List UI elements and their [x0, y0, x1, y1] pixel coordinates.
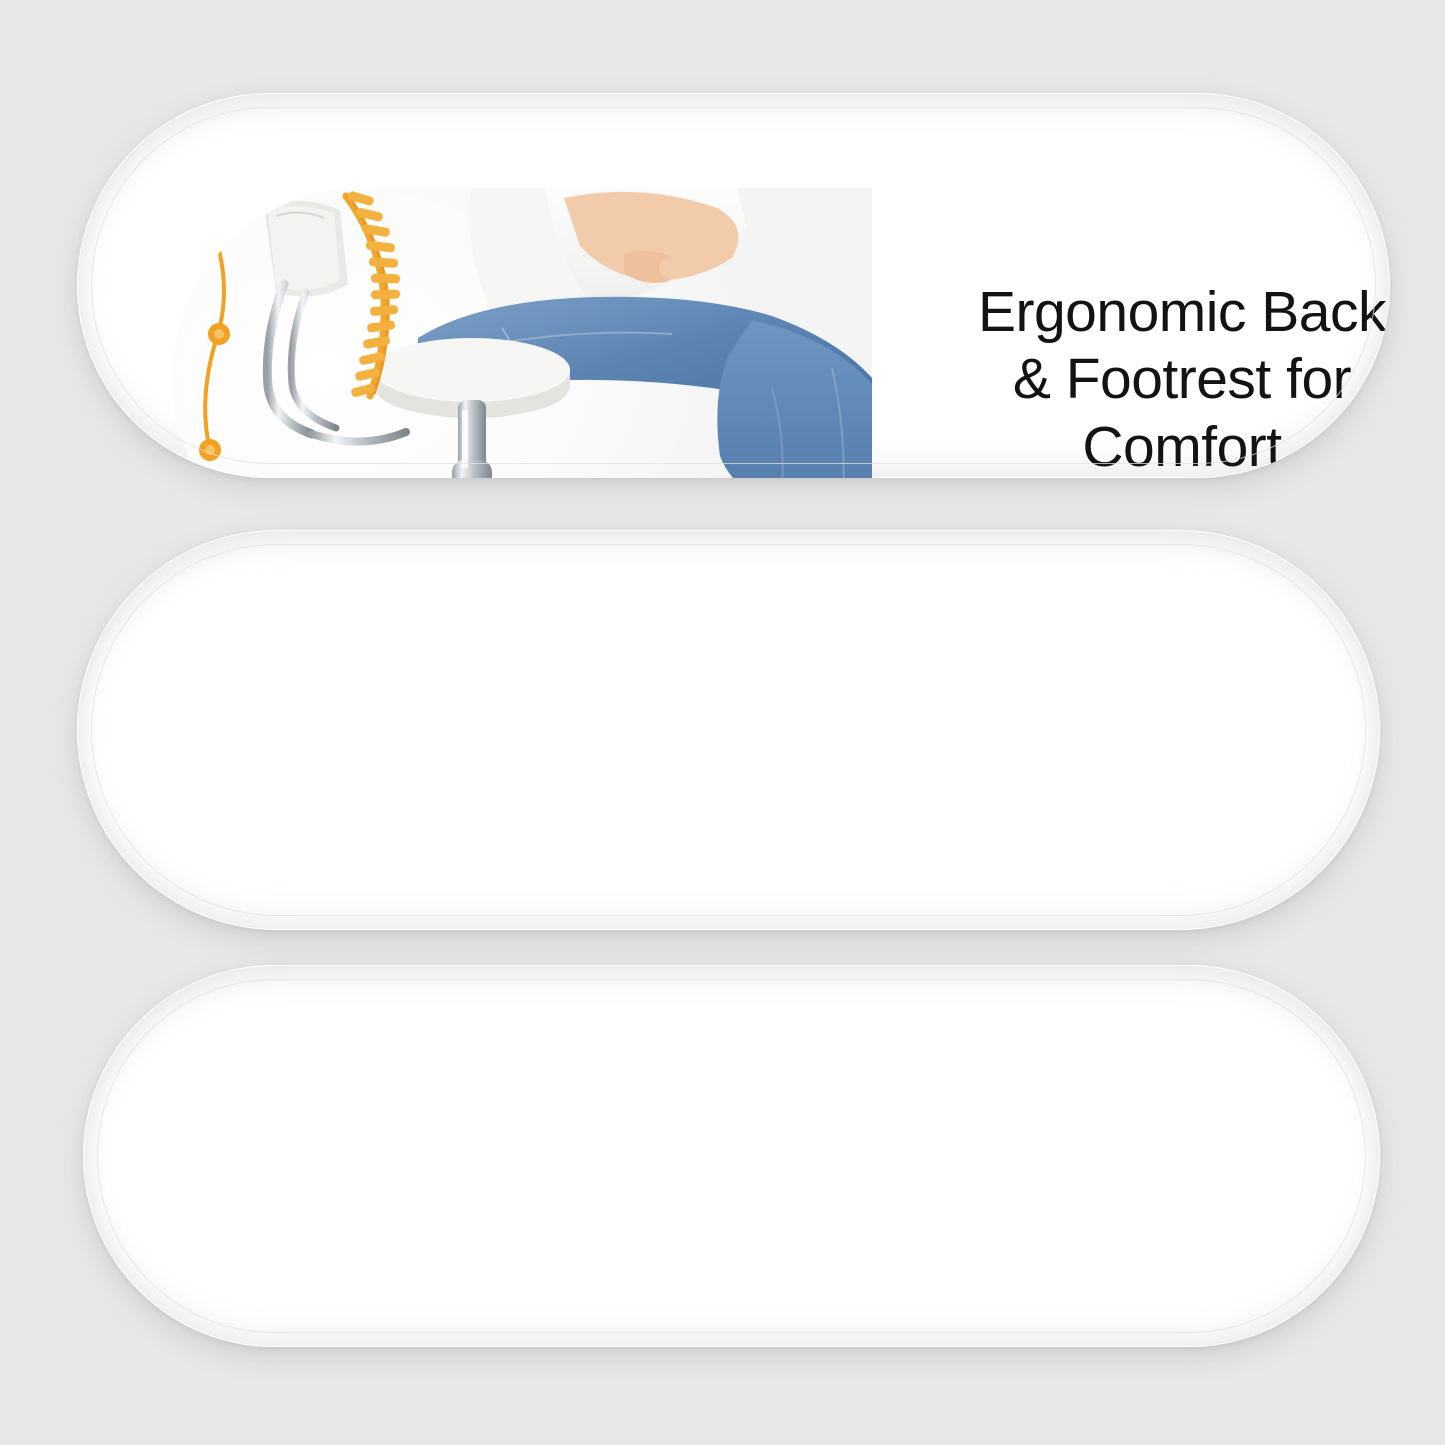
photo-person-seated-on-stool — [172, 188, 872, 478]
feature-card-backrest: Supportive Backrest — [77, 530, 1380, 930]
illustration-person-on-stool — [172, 188, 872, 478]
product-feature-collage: Ergonomic Back & Footrest for Comfort — [0, 0, 1445, 1445]
feature-card-ergonomic: Ergonomic Back & Footrest for Comfort — [77, 93, 1390, 478]
feature-caption-ergonomic: Ergonomic Back & Footrest for Comfort — [932, 279, 1390, 478]
posture-curve-icon — [196, 203, 230, 461]
feature-card-footrest: Relaxing Footrest — [83, 965, 1380, 1347]
